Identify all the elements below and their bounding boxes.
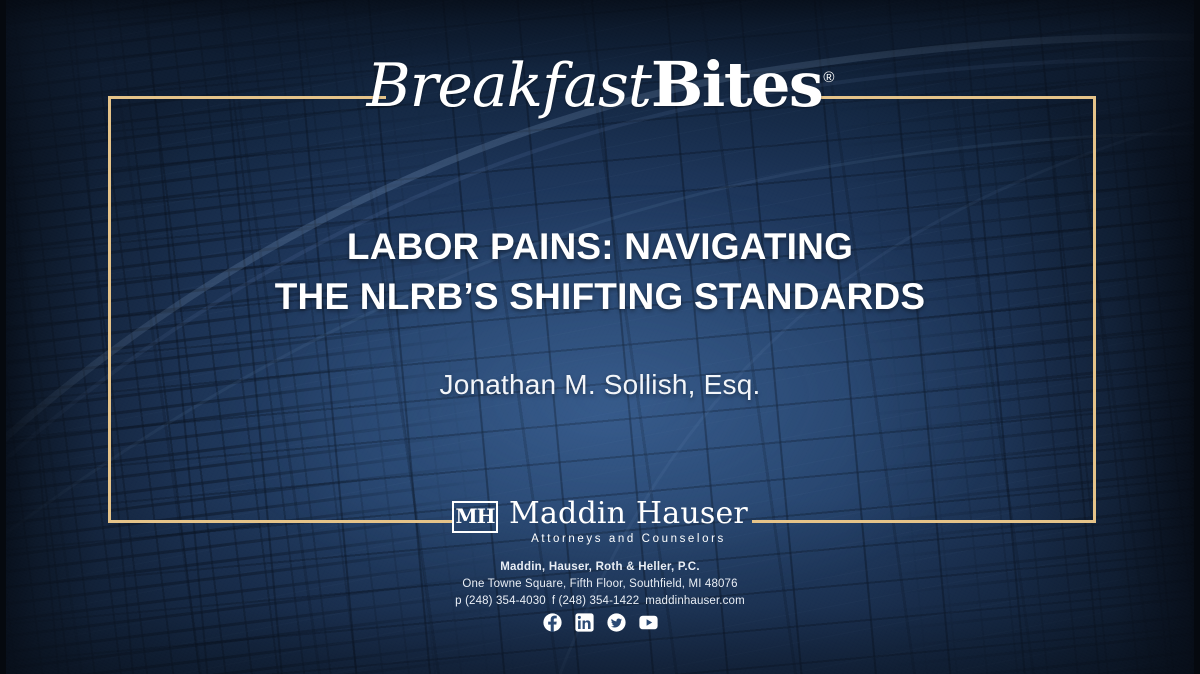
firm-logo-tagline: Attorneys and Counselors bbox=[531, 532, 726, 546]
youtube-icon[interactable] bbox=[639, 613, 658, 632]
brand-bold-word: Bites bbox=[651, 48, 822, 121]
mh-monogram-icon: MH bbox=[452, 501, 498, 533]
title-slide: BreakfastBites® LABOR PAINS: NAVIGATING … bbox=[0, 0, 1200, 674]
contact-block: Maddin, Hauser, Roth & Heller, P.C. One … bbox=[0, 559, 1200, 610]
linkedin-icon[interactable] bbox=[575, 613, 594, 632]
facebook-icon[interactable] bbox=[543, 613, 562, 632]
firm-logo-name: Maddin Hauser bbox=[509, 498, 748, 530]
contact-address: One Towne Square, Fifth Floor, Southfiel… bbox=[0, 576, 1200, 593]
maddin-hauser-logo: MH Maddin Hauser Attorneys and Counselor… bbox=[0, 498, 1200, 546]
page-title: LABOR PAINS: NAVIGATING THE NLRB’S SHIFT… bbox=[0, 222, 1200, 322]
registered-trademark-icon: ® bbox=[823, 69, 834, 86]
contact-fax: f (248) 354-1422 bbox=[552, 595, 639, 607]
social-links bbox=[0, 613, 1200, 632]
twitter-icon[interactable] bbox=[607, 613, 626, 632]
page-title-line-2: THE NLRB’S SHIFTING STANDARDS bbox=[0, 272, 1200, 322]
contact-website[interactable]: maddinhauser.com bbox=[645, 595, 745, 607]
contact-firm-name: Maddin, Hauser, Roth & Heller, P.C. bbox=[0, 559, 1200, 576]
contact-phone: p (248) 354-4030 bbox=[455, 595, 546, 607]
presenter-name: Jonathan M. Sollish, Esq. bbox=[0, 369, 1200, 401]
firm-logo-wordmark: Maddin Hauser Attorneys and Counselors bbox=[509, 498, 748, 546]
breakfast-bites-logo: BreakfastBites® bbox=[0, 54, 1200, 116]
mh-monogram-letters: MH bbox=[456, 506, 495, 526]
contact-phone-line: p (248) 354-4030f (248) 354-1422maddinha… bbox=[0, 593, 1200, 610]
page-title-line-1: LABOR PAINS: NAVIGATING bbox=[0, 222, 1200, 272]
brand-script-word: Breakfast bbox=[367, 51, 651, 121]
